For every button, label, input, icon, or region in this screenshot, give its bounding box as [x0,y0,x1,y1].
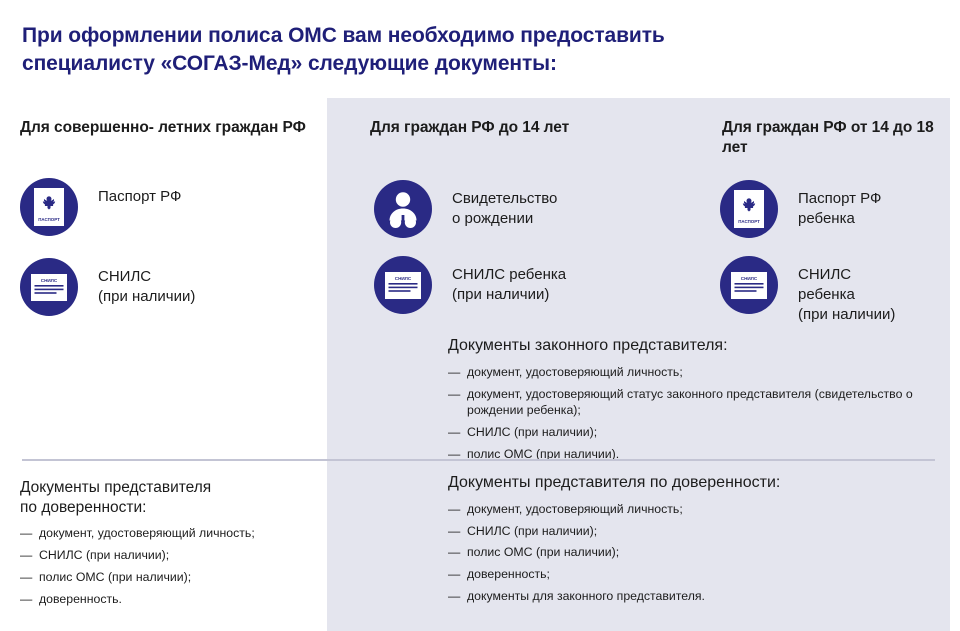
list-item: —полис ОМС (при наличии); [448,544,928,561]
snils-card-icon-caption: СНИЛС [395,276,412,281]
dash-marker: — [20,525,32,542]
list-item: —полис ОМС (при наличии); [20,569,320,586]
horizontal-divider [22,459,935,461]
list-item-text: доверенность; [467,567,550,581]
document-row-snils-teen: СНИЛС СНИЛС ребенка (при наличии) [720,256,895,325]
dash-marker: — [448,588,460,605]
list-item: —СНИЛС (при наличии); [20,547,320,564]
list-item: —доверенность. [20,591,320,608]
list-item: —доверенность; [448,566,928,583]
document-label-snils-child: СНИЛС ребенка (при наличии) [452,256,566,305]
list-item-text: доверенность. [39,592,122,606]
snils-card-icon: СНИЛС [20,258,78,316]
legal-representative-list: —документ, удостоверяющий личность; —док… [448,364,940,463]
page-title: При оформлении полиса ОМС вам необходимо… [22,22,802,77]
passport-icon: ПАСПОРТ [720,180,778,238]
document-label-snils-teen: СНИЛС ребенка (при наличии) [798,256,895,325]
list-item: —документ, удостоверяющий статус законно… [448,386,940,420]
list-item-text: полис ОМС (при наличии); [39,570,191,584]
passport-icon: ПАСПОРТ [20,178,78,236]
snils-card-icon: СНИЛС [374,256,432,314]
document-row-snils-child: СНИЛС СНИЛС ребенка (при наличии) [374,256,566,314]
proxy-left-list: —документ, удостоверяющий личность; —СНИ… [20,525,320,607]
dash-marker: — [20,547,32,564]
list-item-text: СНИЛС (при наличии); [39,548,169,562]
list-item: —СНИЛС (при наличии); [448,523,928,540]
list-item-text: документ, удостоверяющий личность; [467,502,683,516]
proxy-right-title: Документы представителя по доверенности: [448,473,928,494]
proxy-block-right: Документы представителя по доверенности:… [448,473,928,610]
snils-card-icon-caption: СНИЛС [41,278,58,283]
proxy-left-title: Документы представителя по доверенности: [20,478,320,518]
baby-icon [374,180,432,238]
document-label-passport-adult: Паспорт РФ [98,178,181,207]
document-label-snils-adult: СНИЛС (при наличии) [98,258,195,307]
document-row-passport-adult: ПАСПОРТ Паспорт РФ [20,178,181,236]
column-heading-under14: Для граждан РФ до 14 лет [370,118,670,138]
proxy-block-left: Документы представителя по доверенности:… [20,478,320,613]
document-row-birth-certificate: Свидетельство о рождении [374,180,557,238]
proxy-right-list: —документ, удостоверяющий личность; —СНИ… [448,501,928,605]
list-item: —документ, удостоверяющий личность; [448,364,940,381]
legal-representative-block: Документы законного представителя: —доку… [448,336,940,468]
snils-card-icon: СНИЛС [720,256,778,314]
document-label-passport-teen: Паспорт РФ ребенка [798,180,881,229]
column-heading-adults: Для совершенно- летних граждан РФ [20,118,310,138]
dash-marker: — [20,591,32,608]
list-item: —документ, удостоверяющий личность; [448,501,928,518]
dash-marker: — [20,569,32,586]
list-item: —документ, удостоверяющий личность; [20,525,320,542]
list-item-text: полис ОМС (при наличии); [467,545,619,559]
dash-marker: — [448,544,460,561]
legal-representative-title: Документы законного представителя: [448,336,940,357]
infographic-page: При оформлении полиса ОМС вам необходимо… [0,0,960,631]
list-item-text: документ, удостоверяющий личность; [467,365,683,379]
list-item-text: документ, удостоверяющий личность; [39,526,255,540]
passport-icon-caption: ПАСПОРТ [38,217,60,222]
document-label-birth-certificate: Свидетельство о рождении [452,180,557,229]
list-item: —СНИЛС (при наличии); [448,424,940,441]
document-row-snils-adult: СНИЛС СНИЛС (при наличии) [20,258,195,316]
dash-marker: — [448,364,460,381]
dash-marker: — [448,386,460,403]
passport-icon-caption: ПАСПОРТ [738,219,760,224]
document-row-passport-teen: ПАСПОРТ Паспорт РФ ребенка [720,180,881,238]
list-item-text: СНИЛС (при наличии); [467,425,597,439]
list-item-text: СНИЛС (при наличии); [467,524,597,538]
dash-marker: — [448,424,460,441]
dash-marker: — [448,566,460,583]
column-heading-from14to18: Для граждан РФ от 14 до 18 лет [722,118,942,159]
dash-marker: — [448,501,460,518]
list-item-text: документы для законного представителя. [467,589,705,603]
list-item: —документы для законного представителя. [448,588,928,605]
dash-marker: — [448,523,460,540]
snils-card-icon-caption: СНИЛС [741,276,758,281]
list-item-text: документ, удостоверяющий статус законног… [467,387,913,418]
